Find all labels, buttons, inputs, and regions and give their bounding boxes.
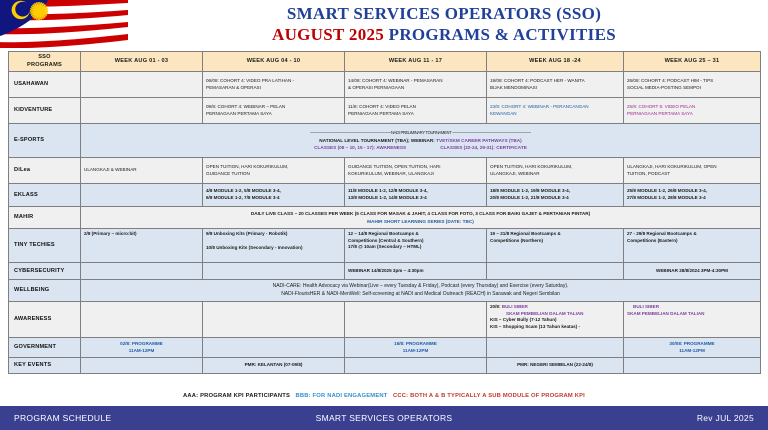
- cell-awareness-w5-l1: BULI SIBER: [627, 304, 757, 311]
- title-month: AUGUST 2025: [272, 25, 384, 44]
- cell-eklass-w5: 25/8 MODULE 1-2, 26/8 MODULE 3-4, 27/8 M…: [624, 184, 761, 207]
- cell-government-w3: 16/8: PROGRAMME 11AM-12PM: [345, 338, 487, 358]
- cell-eklass-w5-l2: 27/8 MODULE 1-2, 28/8 MODULE 3-4: [627, 195, 757, 202]
- cell-kidventure-w4-l2: KEWANGAN: [490, 111, 620, 118]
- title-line-1: SMART SERVICES OPERATORS (SSO): [128, 4, 760, 24]
- cell-esports-line2: NATIONAL LEVEL TOURNAMENT (TBA); WEBINAR…: [84, 137, 757, 144]
- row-label-government: GOVERNMENT: [9, 338, 81, 358]
- cell-usahawan-w3: 14/08: COHORT 4: WEBINAR - PEMASARAN & O…: [345, 72, 487, 98]
- cell-tiny-techies-w3-l1: 12 – 14/8 Regional Bootcamps &: [348, 231, 483, 238]
- row-label-eklass: EKLASS: [9, 184, 81, 207]
- row-label-mahir: MAHIR: [9, 207, 81, 229]
- row-label-kidventure: KIDVENTURE: [9, 98, 81, 124]
- cell-eklass-w2-l1: 4/8 MODULE 1-2, 5/8 MODULE 3-4,: [206, 188, 341, 195]
- cell-usahawan-w4-l1: 19/08: COHORT 4: PODCAST HER - WANITA: [490, 78, 620, 85]
- cell-tiny-techies-w3: 12 – 14/8 Regional Bootcamps & Competiti…: [345, 229, 487, 263]
- cell-wellbeing-line1: NADI-CARE: Health Advocacy via Webinar(L…: [84, 283, 757, 290]
- cell-dilea-w4-l2: ULANGKAJI, WEBINAR: [490, 171, 620, 178]
- table-row-eklass: EKLASS 4/8 MODULE 1-2, 5/8 MODULE 3-4, 6…: [9, 184, 761, 207]
- table-row-esports: E-SPORTS -------------------------------…: [9, 124, 761, 158]
- table-row-awareness: AWARENESS 20/8: BULI SIBER SKAM PEMBELIA…: [9, 302, 761, 338]
- col-header-week-3: WEEK AUG 11 - 17: [345, 52, 487, 72]
- cell-key-events-w4: PMR: NEGERI SEMBILAN (22-24/8): [487, 358, 624, 374]
- cell-esports-line2-b: TVET/SKM CAREER PATHWAYS (TBA): [436, 138, 522, 143]
- footer-left: PROGRAM SCHEDULE: [14, 413, 111, 423]
- cell-awareness-w4-l4: KIS – Shopping Scam (13 Tahun keatas) -: [490, 324, 620, 331]
- footer-center: SMART SERVICES OPERATORS: [0, 413, 768, 423]
- cell-kidventure-w3: 11/8: COHORT 4: VIDEO PELAN PERNIAGAAN P…: [345, 98, 487, 124]
- table-row-wellbeing: WELLBEING NADI-CARE: Health Advocacy via…: [9, 280, 761, 302]
- cell-mahir-line2: MAHIR SHORT LEARNING SERIES (DATE: TBC): [84, 218, 757, 225]
- cell-tiny-techies-w5-l1: 27 - 29/8 Regional Bootcamps &: [627, 231, 757, 238]
- cell-dilea-w5-l1: ULANGKAJI, HARI KOKURIKULUM, OPEN: [627, 164, 757, 171]
- cell-kidventure-w5-l1: 25/8: COHORT 5: VIDEO PELAN: [627, 104, 757, 111]
- cell-key-events-w5: [624, 358, 761, 374]
- col-header-week-1: WEEK AUG 01 - 03: [81, 52, 203, 72]
- legend-bbb: BBB: FOR NADI ENGAGEMENT: [295, 393, 387, 399]
- cell-tiny-techies-w2: 9/8 Unboxing Kits (Primary - Robotik) 10…: [203, 229, 345, 263]
- col-header-programs-line2: PROGRAMS: [12, 62, 77, 70]
- legend-ccc: CCC: BOTH A & B TYPICALLY A SUB MODULE O…: [393, 393, 585, 399]
- cell-cybersecurity-w3: WEBINAR 14/8/2025 3pm – 4:30pm: [345, 263, 487, 280]
- cell-government-w3-l2: 11AM-12PM: [348, 348, 483, 355]
- title-line-2: AUGUST 2025 PROGRAMS & ACTIVITIES: [128, 24, 760, 45]
- cell-usahawan-w4-l2: BIJAK MENDOMINASI: [490, 85, 620, 92]
- col-header-week-4: WEEK AUG 18 -24: [487, 52, 624, 72]
- cell-eklass-w5-l1: 25/8 MODULE 1-2, 26/8 MODULE 3-4,: [627, 188, 757, 195]
- cell-key-events-w2: PMR: KELANTAN (07-09/8): [203, 358, 345, 374]
- cell-esports-line3: CLASSES (08 – 10, 15 - 17): AWARENESSCLA…: [84, 144, 757, 151]
- cell-tiny-techies-w4-l1: 19 – 21/8 Regional Bootcamps &: [490, 231, 620, 238]
- cell-government-w1-l1: 02/8: PROGRAMME: [84, 341, 199, 348]
- cell-government-w5-l2: 11AM-12PM: [627, 348, 757, 355]
- cell-mahir-span: DAILY LIVE CLASS – 20 CLASSES PER WEEK (…: [81, 207, 761, 229]
- cell-key-events-w1: [81, 358, 203, 374]
- cell-usahawan-w3-l1: 14/08: COHORT 4: WEBINAR - PEMASARAN: [348, 78, 483, 85]
- table-row-government: GOVERNMENT 02/8: PROGRAMME 11AM-12PM 16/…: [9, 338, 761, 358]
- cell-government-w1: 02/8: PROGRAMME 11AM-12PM: [81, 338, 203, 358]
- cell-tiny-techies-w3-l3: 17/8 @ 10am (Secondary – HTML): [348, 244, 483, 251]
- cell-usahawan-w3-l2: & OPERASI PERNIAGAAN: [348, 85, 483, 92]
- cell-awareness-w1: [81, 302, 203, 338]
- cell-tiny-techies-w5-l2: Competitions (Eastern): [627, 238, 757, 245]
- schedule-table: SSO PROGRAMS WEEK AUG 01 - 03 WEEK AUG 0…: [8, 51, 761, 374]
- col-header-programs-line1: SSO: [12, 54, 77, 62]
- legend-aaa: AAA: PROGRAM KPI PARTICIPANTS: [183, 393, 290, 399]
- table-row-cybersecurity: CYBERSECURITY WEBINAR 14/8/2025 3pm – 4:…: [9, 263, 761, 280]
- table-row-kidventure: KIDVENTURE 09/8: COHORT 4: WEBINAR – PEL…: [9, 98, 761, 124]
- cell-usahawan-w2-l2: PEMASARAN & OPERASI: [206, 85, 341, 92]
- cell-eklass-w2-l2: 6/8 MODULE 1-2, 7/8 MODULE 3-4: [206, 195, 341, 202]
- cell-kidventure-w2-l2: PERNIAGAAN PERTAMA SAYA: [206, 111, 341, 118]
- cell-kidventure-w2-l1: 09/8: COHORT 4: WEBINAR – PELAN: [206, 104, 341, 111]
- cell-tiny-techies-w4: 19 – 21/8 Regional Bootcamps & Competiti…: [487, 229, 624, 263]
- table-row-tiny-techies: TINY TECHIES 2/8 (Primary – micro:bit) 9…: [9, 229, 761, 263]
- cell-esports-line3-a: CLASSES (08 – 10, 15 - 17): AWARENESS: [314, 145, 406, 150]
- cell-government-w2: [203, 338, 345, 358]
- col-header-week-5: WEEK AUG 25 – 31: [624, 52, 761, 72]
- title-rest: PROGRAMS & ACTIVITIES: [384, 25, 616, 44]
- cell-tiny-techies-w1: 2/8 (Primary – micro:bit): [81, 229, 203, 263]
- cell-dilea-w1-l1: ULANGKAJI & WEBINAR: [84, 167, 199, 174]
- malaysia-flag-icon: [0, 0, 128, 48]
- row-label-dilea: DiLea: [9, 158, 81, 184]
- cell-dilea-w1: ULANGKAJI & WEBINAR: [81, 158, 203, 184]
- cell-awareness-w2: [203, 302, 345, 338]
- cell-cybersecurity-w2: [203, 263, 345, 280]
- row-label-wellbeing: WELLBEING: [9, 280, 81, 302]
- cell-kidventure-w5-l2: PERNIAGAAN PERTAMA SAYA: [627, 111, 757, 118]
- schedule-page: SMART SERVICES OPERATORS (SSO) AUGUST 20…: [0, 0, 768, 430]
- cell-mahir-line1: DAILY LIVE CLASS – 20 CLASSES PER WEEK (…: [84, 210, 757, 217]
- cell-awareness-w4: 20/8: BULI SIBER SKAM PEMBELIAN DALAM TA…: [487, 302, 624, 338]
- cell-government-w5-l1: 30/08: PROGRAMME: [627, 341, 757, 348]
- cell-esports-span: ----------------------------------------…: [81, 124, 761, 158]
- cell-dilea-w2-l1: OPEN TUITION, HARI KOKURIKULUM,: [206, 164, 341, 171]
- cell-esports-line3-b: CLASSES (22-24, 29-31): CERTIFICATE: [440, 145, 527, 150]
- cell-dilea-w3: GUIDANCE TUITION, OPEN TUITION, HARI KOK…: [345, 158, 487, 184]
- cell-dilea-w5-l2: TUITION, PODCAST: [627, 171, 757, 178]
- cell-cybersecurity-w5: WEBINAR 28/8/2024 3PM-4:30PM: [624, 263, 761, 280]
- cell-kidventure-w1: [81, 98, 203, 124]
- cell-usahawan-w4: 19/08: COHORT 4: PODCAST HER - WANITA BI…: [487, 72, 624, 98]
- cell-kidventure-w3-l2: PERNIAGAAN PERTAMA SAYA: [348, 111, 483, 118]
- cell-eklass-w4-l1: 18/8 MODULE 1-2, 19/8 MODULE 3-4,: [490, 188, 620, 195]
- cell-dilea-w3-l2: KOKURIKULUM, WEBINAR, ULANGKAJI: [348, 171, 483, 178]
- cell-wellbeing-line2: NADI-FlourisHER & NADI-MenWell: Self-scr…: [84, 291, 757, 298]
- cell-eklass-w3-l2: 13/8 MODULE 1-2, 14/8 MODULE 3-4: [348, 195, 483, 202]
- cell-dilea-w2: OPEN TUITION, HARI KOKURIKULUM, GUIDANCE…: [203, 158, 345, 184]
- cell-awareness-w4-l2: SKAM PEMBELIAN DALAM TALIAN: [490, 311, 620, 318]
- legend-row: AAA: PROGRAM KPI PARTICIPANTS BBB: FOR N…: [8, 393, 760, 399]
- cell-eklass-w1: [81, 184, 203, 207]
- cell-dilea-w5: ULANGKAJI, HARI KOKURIKULUM, OPEN TUITIO…: [624, 158, 761, 184]
- cell-kidventure-w3-l1: 11/8: COHORT 4: VIDEO PELAN: [348, 104, 483, 111]
- row-label-tiny-techies: TINY TECHIES: [9, 229, 81, 263]
- cell-tiny-techies-w5: 27 - 29/8 Regional Bootcamps & Competiti…: [624, 229, 761, 263]
- cell-awareness-w4-l3: KIS – Cyber Bully (7-12 Tahun): [490, 317, 620, 324]
- cell-government-w5: 30/08: PROGRAMME 11AM-12PM: [624, 338, 761, 358]
- cell-eklass-w4: 18/8 MODULE 1-2, 19/8 MODULE 3-4, 20/8 M…: [487, 184, 624, 207]
- cell-esports-line1: ----------------------------------------…: [84, 129, 757, 136]
- cell-awareness-w5: BULI SIBER SKAM PEMBELIAN DALAM TALIAN: [624, 302, 761, 338]
- cell-tiny-techies-w2-l1: 9/8 Unboxing Kits (Primary - Robotik): [206, 231, 341, 238]
- table-row-usahawan: USAHAWAN 06/08: COHORT 4: VIDEO PRA LATI…: [9, 72, 761, 98]
- cell-kidventure-w5: 25/8: COHORT 5: VIDEO PELAN PERNIAGAAN P…: [624, 98, 761, 124]
- cell-cybersecurity-w1: [81, 263, 203, 280]
- cell-eklass-w2: 4/8 MODULE 1-2, 5/8 MODULE 3-4, 6/8 MODU…: [203, 184, 345, 207]
- cell-awareness-w5-l2: SKAM PEMBELIAN DALAM TALIAN: [627, 311, 757, 318]
- cell-tiny-techies-w3-l2: Competitions (Central & Southern): [348, 238, 483, 245]
- cell-tiny-techies-w4-l2: Competitions (Northern): [490, 238, 620, 245]
- cell-wellbeing-span: NADI-CARE: Health Advocacy via Webinar(L…: [81, 280, 761, 302]
- table-row-dilea: DiLea ULANGKAJI & WEBINAR OPEN TUITION, …: [9, 158, 761, 184]
- row-label-key-events: KEY EVENTS: [9, 358, 81, 374]
- cell-awareness-w4-date: 20/8:: [490, 304, 500, 309]
- row-label-usahawan: USAHAWAN: [9, 72, 81, 98]
- cell-usahawan-w5-l1: 26/08: COHORT 4: PODCAST HIM - TIPS: [627, 78, 757, 85]
- cell-dilea-w2-l2: GUIDANCE TUITION: [206, 171, 341, 178]
- cell-kidventure-w4-l1: 23/8: COHORT 4: WEBINAR - PERANCANGAN: [490, 104, 620, 111]
- cell-dilea-w3-l1: GUIDANCE TUITION, OPEN TUITION, HARI: [348, 164, 483, 171]
- cell-government-w3-l1: 16/8: PROGRAMME: [348, 341, 483, 348]
- cell-eklass-w4-l2: 20/8 MODULE 1-2, 21/8 MODULE 3-4: [490, 195, 620, 202]
- page-title: SMART SERVICES OPERATORS (SSO) AUGUST 20…: [128, 4, 760, 45]
- cell-awareness-w3: [345, 302, 487, 338]
- cell-usahawan-w2: 06/08: COHORT 4: VIDEO PRA LATIHAN - PEM…: [203, 72, 345, 98]
- cell-kidventure-w4: 23/8: COHORT 4: WEBINAR - PERANCANGAN KE…: [487, 98, 624, 124]
- footer-bar: PROGRAM SCHEDULE SMART SERVICES OPERATOR…: [0, 406, 768, 430]
- cell-usahawan-w5-l2: SOCIAL MEDIA-POSTING SEMPOI: [627, 85, 757, 92]
- cell-government-w1-l2: 11AM-12PM: [84, 348, 199, 355]
- cell-tiny-techies-w1-l1: 2/8 (Primary – micro:bit): [84, 231, 199, 238]
- cell-eklass-w3: 11/8 MODULE 1-2, 12/8 MODULE 3-4, 13/8 M…: [345, 184, 487, 207]
- cell-dilea-w4: OPEN TUITION, HARI KOKURIKULUM, ULANGKAJ…: [487, 158, 624, 184]
- row-label-awareness: AWARENESS: [9, 302, 81, 338]
- cell-awareness-w4-l1: 20/8: BULI SIBER: [490, 304, 620, 311]
- table-header-row: SSO PROGRAMS WEEK AUG 01 - 03 WEEK AUG 0…: [9, 52, 761, 72]
- col-header-week-2: WEEK AUG 04 - 10: [203, 52, 345, 72]
- cell-usahawan-w2-l1: 06/08: COHORT 4: VIDEO PRA LATIHAN -: [206, 78, 341, 85]
- col-header-programs: SSO PROGRAMS: [9, 52, 81, 72]
- cell-awareness-w4-buli: BULI SIBER: [502, 304, 528, 309]
- footer-right: Rev JUL 2025: [697, 413, 754, 423]
- cell-kidventure-w2: 09/8: COHORT 4: WEBINAR – PELAN PERNIAGA…: [203, 98, 345, 124]
- cell-dilea-w4-l1: OPEN TUITION, HARI KOKURIKULUM,: [490, 164, 620, 171]
- cell-government-w4: [487, 338, 624, 358]
- cell-esports-line2-a: NATIONAL LEVEL TOURNAMENT (TBA); WEBINAR…: [319, 138, 436, 143]
- cell-eklass-w3-l1: 11/8 MODULE 1-2, 12/8 MODULE 3-4,: [348, 188, 483, 195]
- row-label-cybersecurity: CYBERSECURITY: [9, 263, 81, 280]
- cell-usahawan-w1: [81, 72, 203, 98]
- cell-usahawan-w5: 26/08: COHORT 4: PODCAST HIM - TIPS SOCI…: [624, 72, 761, 98]
- row-label-esports: E-SPORTS: [9, 124, 81, 158]
- cell-tiny-techies-w2-l2: 10/8 Unboxing Kits (Secondary - Innovati…: [206, 245, 341, 252]
- cell-key-events-w3: [345, 358, 487, 374]
- table-row-mahir: MAHIR DAILY LIVE CLASS – 20 CLASSES PER …: [9, 207, 761, 229]
- table-row-key-events: KEY EVENTS PMR: KELANTAN (07-09/8) PMR: …: [9, 358, 761, 374]
- cell-cybersecurity-w4: [487, 263, 624, 280]
